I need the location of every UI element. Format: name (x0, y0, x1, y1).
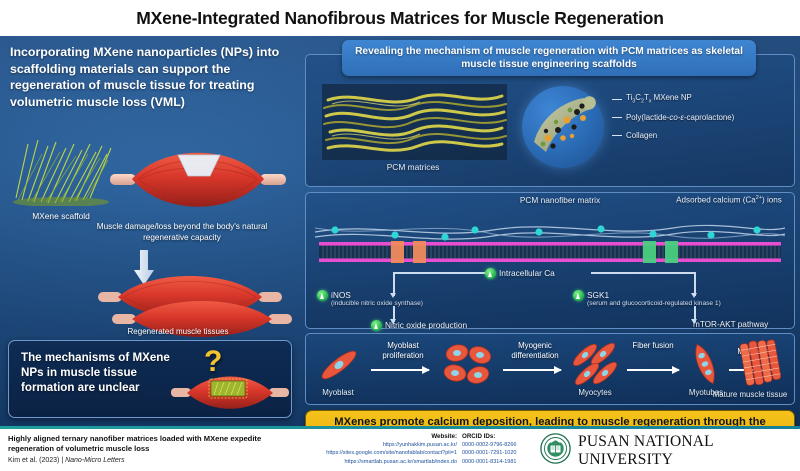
step-arrow-proliferation (371, 369, 429, 371)
citation-authors: Kim et al. (2023) (8, 457, 59, 464)
step-label-proliferation: Myoblast proliferation (367, 341, 439, 361)
pcm-matrices-graphic (322, 84, 507, 160)
node-sgk1: SGK1 (serum and glucocorticoid-regulated… (573, 290, 721, 309)
muscle-damage-label: Muscle damage/loss beyond the body's nat… (82, 222, 282, 243)
citation-separator: | (61, 457, 63, 464)
adsorbed-calcium-label: Adsorbed calcium (Ca2+) ions (655, 195, 800, 205)
legend-label-polymer: Poly(lactide-co-ε-caprolactone) (626, 113, 734, 122)
regenerated-muscle-label: Regenerated muscle tissues (78, 327, 278, 336)
legend-leader-line (612, 117, 622, 118)
website-link[interactable]: https://smartlab.pusan.ac.kr/smartlab/in… (292, 458, 457, 466)
node-label: iNOS (331, 290, 351, 300)
university-branding: PUSAN NATIONAL UNIVERSITY (540, 433, 800, 469)
mxene-scaffold-graphic (8, 134, 114, 206)
intro-statement: Incorporating MXene nanoparticles (NPs) … (10, 44, 295, 110)
node-inos: iNOS (inducible nitric oxide synthase) (317, 290, 423, 309)
stage-myocytes-graphic (571, 341, 619, 392)
website-link[interactable]: https://yunhakkim.pusan.ac.kr/ (292, 441, 457, 449)
upregulation-arrow-icon (317, 290, 328, 301)
step-arrow-fusion (627, 369, 679, 371)
node-sublabel: (inducible nitric oxide synthase) (331, 300, 423, 308)
node-mtor-akt: mTOR-AKT pathway (693, 320, 768, 330)
node-sublabel: (serum and glucocorticoid-regulated kina… (587, 300, 721, 308)
scaffold-on-muscle-graphic (169, 371, 291, 420)
right-column: Revealing the mechanism of muscle regene… (300, 36, 800, 426)
stage-myoblast-graphic (317, 343, 361, 392)
node-nitric-oxide: Nitric oxide production (371, 320, 467, 331)
regenerated-muscle-graphic-2 (110, 298, 296, 344)
citation-reference: Kim et al. (2023) | Nano-Micro Letters (8, 457, 125, 464)
step-label-fusion: Fiber fusion (625, 341, 681, 351)
stage-proliferated-cells-graphic (441, 341, 495, 392)
pcm-matrices-label: PCM matrices (348, 162, 478, 172)
orcid-id[interactable]: 0000-0001-8314-1981 (462, 458, 534, 466)
connector-line (591, 272, 695, 274)
website-link[interactable]: https://sites.google.com/site/nanofablab… (292, 449, 457, 457)
step-label-differentiation: Myogenic differentiation (497, 341, 573, 361)
orcid-list: ORCID IDs: 0000-0002-9796-8266 0000-0001… (462, 433, 534, 466)
node-label: Intracellular Ca (499, 268, 555, 278)
orcid-heading: ORCID IDs: (462, 433, 534, 440)
page-title: MXene-Integrated Nanofibrous Matrices fo… (136, 8, 663, 29)
upregulation-arrow-icon (485, 268, 496, 279)
stage-label-myoblast: Myoblast (309, 388, 367, 397)
citation-journal: Nano-Micro Letters (65, 457, 125, 464)
mxene-scaffold-label: MXene scaffold (26, 211, 96, 222)
unclear-mechanism-box: The mechanisms of MXene NPs in muscle ti… (8, 340, 292, 418)
pcm-nanofiber-matrix-label: PCM nanofiber matrix (480, 195, 640, 205)
node-label: mTOR-AKT pathway (693, 320, 768, 330)
footer: Highly aligned ternary nanofiber matrice… (0, 429, 800, 471)
website-links: Website: https://yunhakkim.pusan.ac.kr/ … (292, 433, 457, 466)
damaged-muscle-graphic (108, 146, 288, 220)
orcid-id[interactable]: 0000-0001-7291-1020 (462, 449, 534, 457)
university-seal-icon (540, 433, 571, 469)
connector-line (393, 272, 491, 274)
infographic-page: MXene-Integrated Nanofibrous Matrices fo… (0, 0, 800, 471)
legend-item-collagen: Collagen (612, 126, 790, 144)
mechanism-banner: Revealing the mechanism of muscle regene… (342, 40, 756, 76)
left-column: Incorporating MXene nanoparticles (NPs) … (0, 36, 300, 426)
page-title-bar: MXene-Integrated Nanofibrous Matrices fo… (0, 0, 800, 36)
legend-label-mxene: Ti3C2Tx MXene NP (626, 93, 692, 105)
stage-label-mature-muscle: Mature muscle tissue (705, 390, 795, 399)
step-arrow-differentiation (503, 369, 561, 371)
legend-leader-line (612, 99, 622, 100)
nanofiber-membrane-graphic (313, 218, 787, 264)
stage-label-myocytes: Myocytes (563, 388, 627, 397)
differentiation-content: Myoblast Myoblast proliferation (305, 333, 795, 405)
node-label: Nitric oxide production (385, 320, 467, 330)
upregulation-arrow-icon (573, 290, 584, 301)
legend-label-collagen: Collagen (626, 131, 657, 140)
legend-item-polymer: Poly(lactide-co-ε-caprolactone) (612, 108, 790, 126)
citation-title: Highly aligned ternary nanofiber matrice… (8, 434, 308, 455)
upregulation-arrow-icon (371, 320, 382, 331)
legend-leader-line (612, 135, 622, 136)
website-heading: Website: (292, 433, 457, 440)
mechanism-banner-text: Revealing the mechanism of muscle regene… (352, 45, 746, 72)
nanoparticle-magnifier (522, 86, 604, 168)
orcid-id[interactable]: 0000-0002-9796-8266 (462, 441, 534, 449)
node-intracellular-ca: Intracellular Ca (485, 268, 555, 279)
stage-mature-muscle-graphic (735, 337, 787, 392)
stage-myotubes-graphic (687, 341, 723, 392)
unclear-mechanism-text: The mechanisms of MXene NPs in muscle ti… (21, 350, 171, 395)
legend-item-mxene: Ti3C2Tx MXene NP (612, 90, 790, 108)
university-name: PUSAN NATIONAL UNIVERSITY (578, 433, 800, 469)
nanoparticle-legend: Ti3C2Tx MXene NP Poly(lactide-co-ε-capro… (612, 90, 790, 144)
mechanism-content: PCM nanofiber matrix Adsorbed calcium (C… (305, 192, 795, 329)
node-label: SGK1 (587, 290, 609, 300)
